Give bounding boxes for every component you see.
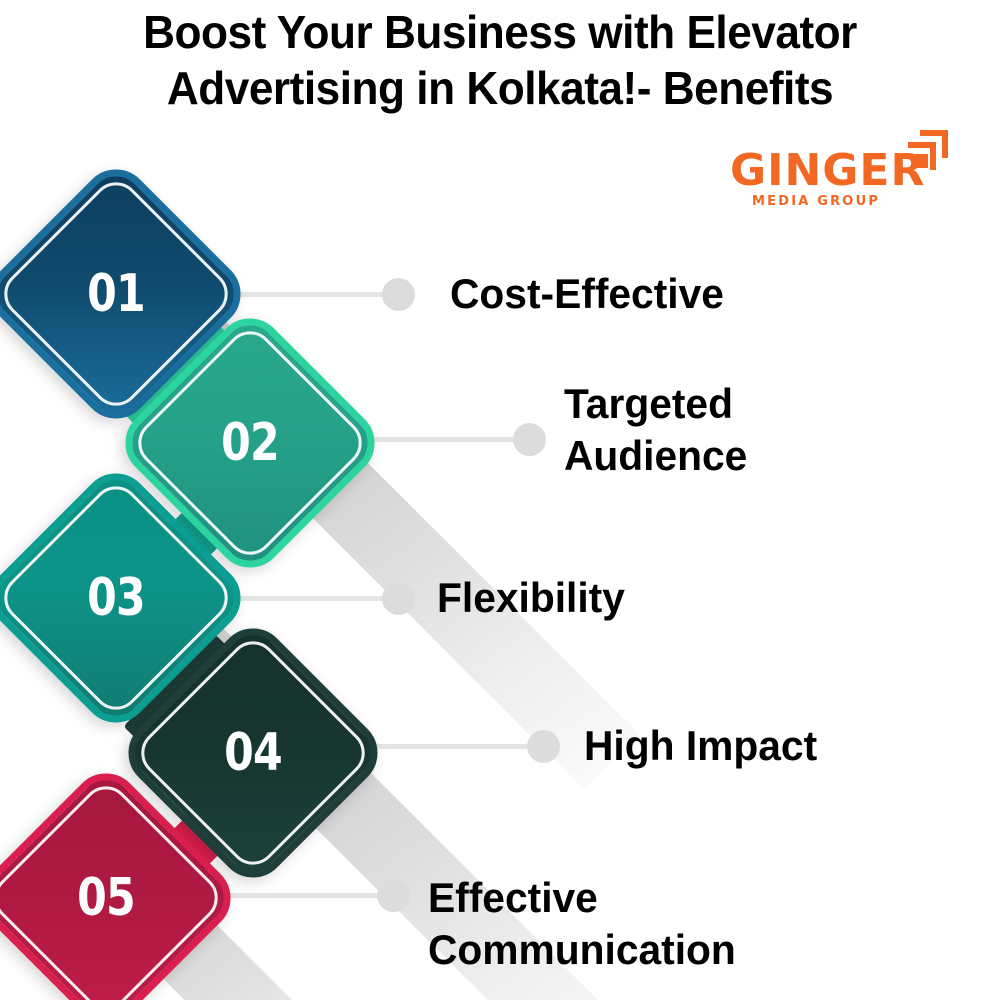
benefit-label-05: Effective Communication <box>428 872 971 976</box>
leader-dot-3 <box>382 582 415 615</box>
ginger-media-group-logo: GINGER MEDIA GROUP <box>724 128 964 218</box>
step-diamond-05[interactable]: 05 <box>8 800 204 996</box>
benefit-label-02: Targeted Audience <box>564 378 821 482</box>
leader-dot-4 <box>527 730 560 763</box>
title-line-1: Boost Your Business with Elevator <box>30 4 971 60</box>
nested-squares-arrow-icon <box>900 128 952 178</box>
step-number-05: 05 <box>26 800 187 996</box>
leader-dot-2 <box>513 423 546 456</box>
leader-dot-1 <box>382 278 415 311</box>
benefit-label-03: Flexibility <box>437 572 961 624</box>
leader-line-5 <box>205 893 395 898</box>
page-title: Boost Your Business with Elevator Advert… <box>0 4 1000 116</box>
benefit-label-01: Cost-Effective <box>450 268 974 320</box>
infographic-canvas: Boost Your Business with Elevator Advert… <box>0 0 1000 1000</box>
leader-dot-5 <box>377 879 410 912</box>
title-line-2: Advertising in Kolkata!- Benefits <box>30 60 971 116</box>
logo-wordmark: GINGER <box>730 148 925 194</box>
benefit-label-04: High Impact <box>584 720 972 772</box>
logo-subtitle: MEDIA GROUP <box>752 194 880 209</box>
